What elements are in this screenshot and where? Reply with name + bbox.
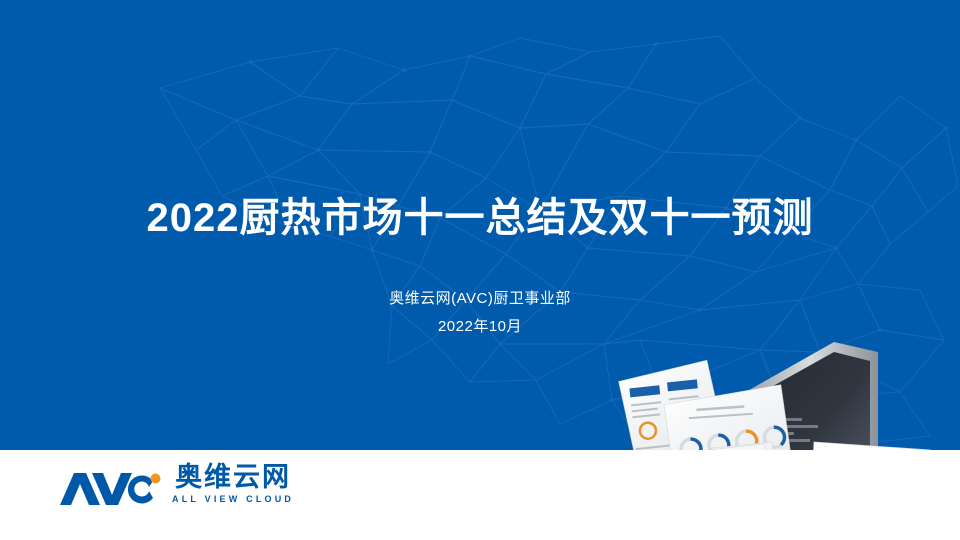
avc-logo: 奥维云网 ALL VIEW CLOUD xyxy=(58,462,294,506)
title-slide: 2022厨热市场十一总结及双十一预测 奥维云网(AVC)厨卫事业部 2022年1… xyxy=(0,0,960,540)
slide-title: 2022厨热市场十一总结及双十一预测 xyxy=(0,195,960,241)
avc-logo-chinese: 奥维云网 xyxy=(175,462,291,492)
slide-subtitle: 奥维云网(AVC)厨卫事业部 xyxy=(0,288,960,310)
avc-logo-wordmark: 奥维云网 ALL VIEW CLOUD xyxy=(172,462,294,506)
avc-logo-mark xyxy=(58,472,162,506)
avc-logo-tagline: ALL VIEW CLOUD xyxy=(172,493,294,505)
